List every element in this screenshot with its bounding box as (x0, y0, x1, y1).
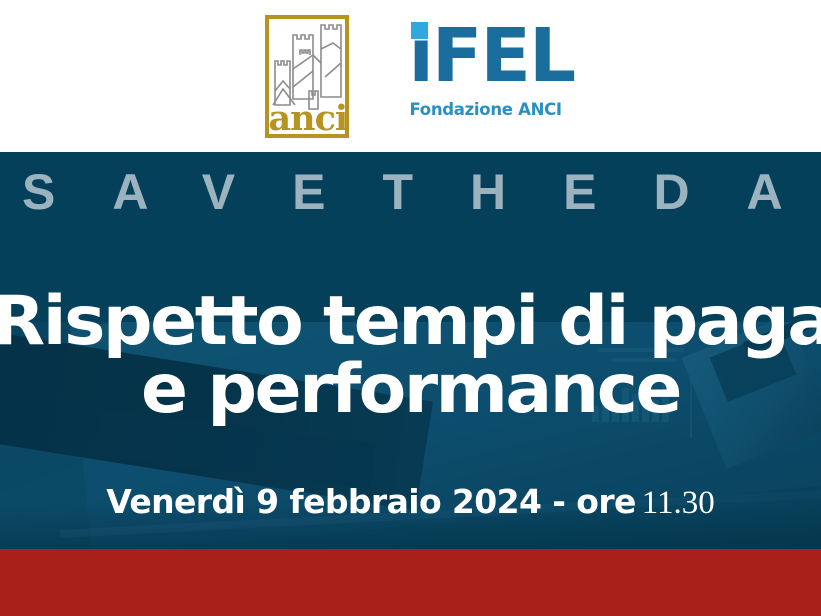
red-footer-band (0, 549, 821, 616)
ifel-wordmark-rest: FEL (432, 13, 574, 99)
main-blue-panel: SAVETHEDA Rispetto tempi di pagamento e … (0, 152, 821, 549)
event-date-line: Venerdì 9 febbraio 2024 - ore11.30 (0, 482, 821, 522)
logo-header: anci iFEL Fondazione ANCI (0, 0, 821, 152)
event-title-line-2: e performance (0, 357, 821, 423)
event-title-line-1: Rispetto tempi di pagamento (0, 289, 821, 355)
ifel-wordmark: iFEL (409, 20, 575, 93)
save-the-date-poster: anci iFEL Fondazione ANCI (0, 0, 821, 616)
save-the-date-banner: SAVETHEDA (22, 152, 821, 232)
ifel-dot-icon (411, 22, 428, 39)
ifel-subtitle: Fondazione ANCI (410, 100, 562, 119)
event-date-text: Venerdì 9 febbraio 2024 - ore (106, 482, 636, 521)
anci-wordmark: anci (269, 101, 345, 136)
ifel-logo: iFEL Fondazione ANCI (407, 16, 557, 136)
anci-logo: anci (265, 15, 349, 138)
event-title: Rispetto tempi di pagamento e performanc… (0, 289, 821, 423)
event-time-text: 11.30 (642, 485, 715, 521)
